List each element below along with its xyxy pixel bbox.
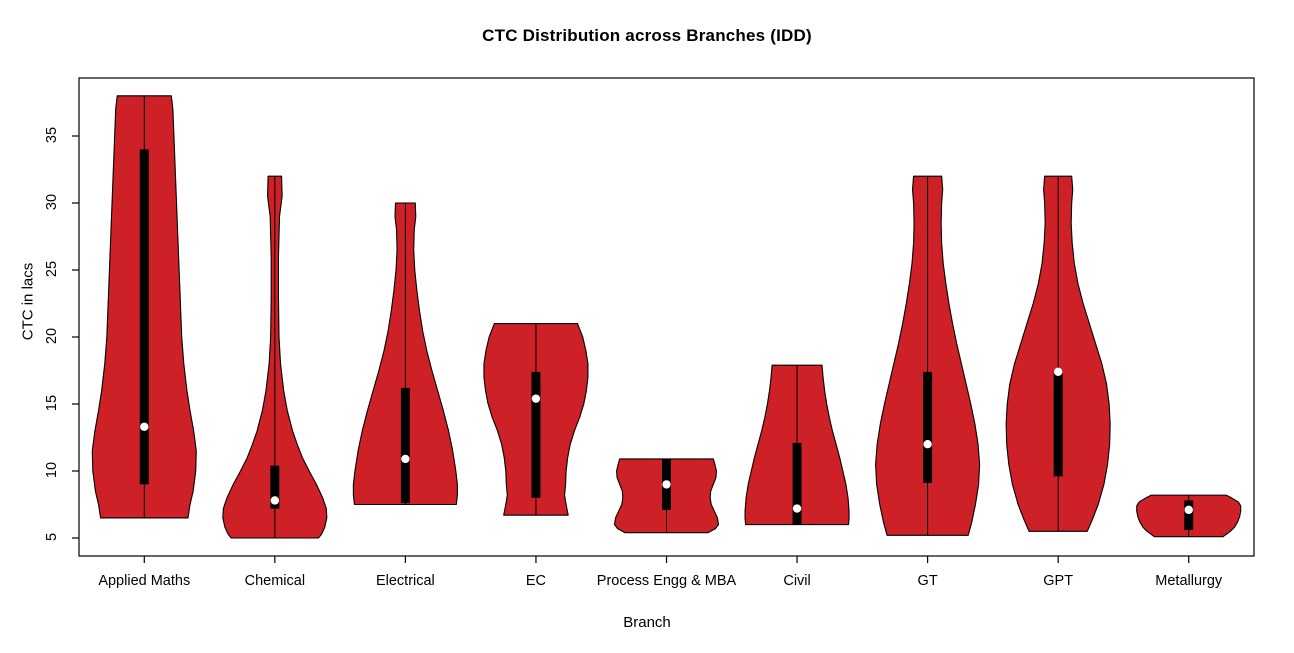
median-point [662, 480, 670, 488]
violin-metallurgy [1137, 495, 1241, 537]
violin-ec [484, 324, 588, 516]
violin-plot-figure: CTC Distribution across Branches (IDD) C… [0, 0, 1294, 653]
median-point [532, 394, 540, 402]
y-axis-tick-label: 15 [44, 390, 60, 416]
x-axis-label: Branch [0, 614, 1294, 631]
x-axis-tick-label-civil: Civil [783, 573, 810, 589]
median-point [793, 504, 801, 512]
plot-canvas [0, 0, 1294, 653]
x-axis-tick-label-process-engg-mba: Process Engg & MBA [597, 573, 736, 589]
median-point [401, 455, 409, 463]
median-point [271, 496, 279, 504]
y-axis-tick-label: 20 [44, 323, 60, 349]
y-axis-tick-label: 35 [44, 122, 60, 148]
violin-chemical [223, 176, 327, 538]
x-axis-tick-label-applied-maths: Applied Maths [98, 573, 190, 589]
violin-applied-maths [92, 96, 196, 518]
x-axis-tick-label-gpt: GPT [1043, 573, 1073, 589]
median-point [140, 423, 148, 431]
violin-gpt [1006, 176, 1110, 531]
x-axis-tick-label-metallurgy: Metallurgy [1155, 573, 1222, 589]
violin-civil [745, 365, 849, 524]
median-point [1185, 506, 1193, 514]
y-axis-tick-label: 30 [44, 189, 60, 215]
violin-process-engg-mba [615, 459, 719, 533]
x-axis-tick-label-gt: GT [918, 573, 938, 589]
violin-gt [876, 176, 980, 535]
violin-electrical [353, 203, 457, 505]
median-point [923, 440, 931, 448]
x-axis-tick-label-ec: EC [526, 573, 546, 589]
x-axis-tick-label-chemical: Chemical [245, 573, 305, 589]
y-axis-tick-label: 10 [44, 457, 60, 483]
y-axis-tick-label: 25 [44, 256, 60, 282]
x-axis-tick-label-electrical: Electrical [376, 573, 435, 589]
y-axis-tick-label: 5 [44, 524, 60, 550]
median-point [1054, 368, 1062, 376]
